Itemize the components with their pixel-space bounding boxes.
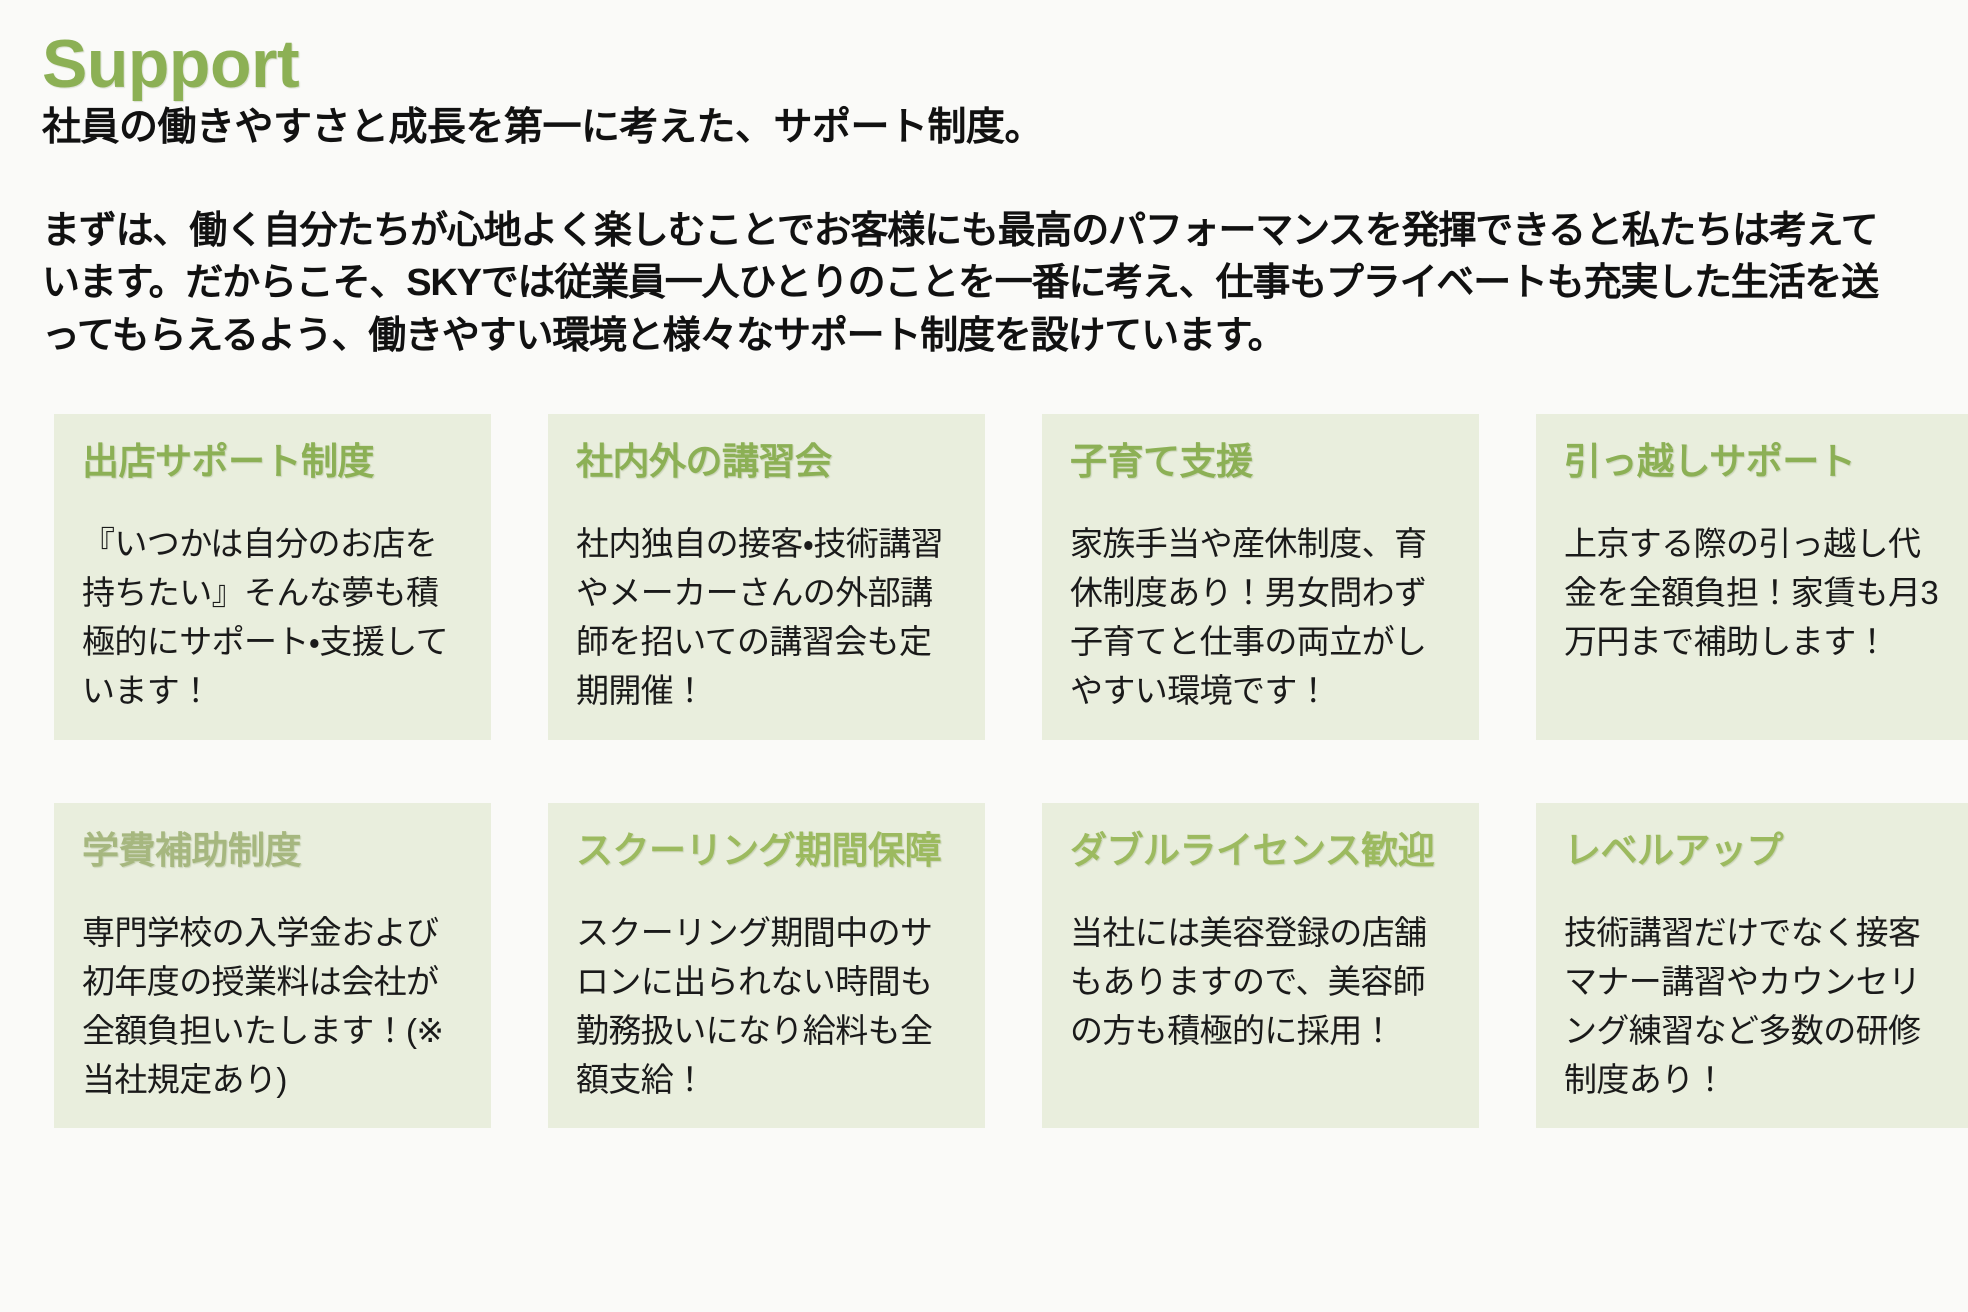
card-title: 子育て支援 — [1070, 440, 1451, 484]
card-body: 技術講習だけでなく接客マナー講習やカウンセリング練習など多数の研修制度あり！ — [1564, 909, 1945, 1104]
page-title: Support — [42, 30, 1913, 98]
card-body: 『いつかは自分のお店を持ちたい』そんな夢も積極的にサポート・支援しています！ — [82, 520, 463, 715]
card-title: 出店サポート制度 — [82, 440, 463, 484]
support-card-shop-opening: 出店サポート制度 『いつかは自分のお店を持ちたい』そんな夢も積極的にサポート・支… — [54, 414, 491, 740]
card-body: 家族手当や産休制度、育休制度あり！男女問わず子育てと仕事の両立がしやすい環境です… — [1070, 520, 1451, 715]
support-card-double-license: ダブルライセンス歓迎 当社には美容登録の店舗もありますので、美容師の方も積極的に… — [1042, 803, 1479, 1129]
support-page: Support 社員の働きやすさと成長を第一に考えた、サポート制度。 まずは、働… — [0, 0, 1968, 1312]
card-body: 専門学校の入学金および初年度の授業料は会社が全額負担いたします！(※当社規定あり… — [82, 909, 463, 1104]
card-title: ダブルライセンス歓迎 — [1070, 829, 1451, 873]
card-title: スクーリング期間保障 — [576, 829, 957, 873]
card-body: 上京する際の引っ越し代金を全額負担！家賃も月3万円まで補助します！ — [1564, 520, 1945, 666]
support-card-moving: 引っ越しサポート 上京する際の引っ越し代金を全額負担！家賃も月3万円まで補助しま… — [1536, 414, 1968, 740]
support-card-schooling-guarantee: スクーリング期間保障 スクーリング期間中のサロンに出られない時間も勤務扱いになり… — [548, 803, 985, 1129]
page-subtitle: 社員の働きやすさと成長を第一に考えた、サポート制度。 — [42, 104, 1913, 153]
support-card-childcare: 子育て支援 家族手当や産休制度、育休制度あり！男女問わず子育てと仕事の両立がしや… — [1042, 414, 1479, 740]
support-card-level-up: レベルアップ 技術講習だけでなく接客マナー講習やカウンセリング練習など多数の研修… — [1536, 803, 1968, 1129]
support-cards-grid: 出店サポート制度 『いつかは自分のお店を持ちたい』そんな夢も積極的にサポート・支… — [54, 414, 1913, 1128]
card-title: 学費補助制度 — [82, 829, 463, 873]
card-title: 社内外の講習会 — [576, 440, 957, 484]
support-card-tuition-assistance: 学費補助制度 専門学校の入学金および初年度の授業料は会社が全額負担いたします！(… — [54, 803, 491, 1129]
card-body: 当社には美容登録の店舗もありますので、美容師の方も積極的に採用！ — [1070, 909, 1451, 1055]
card-title: レベルアップ — [1564, 829, 1945, 873]
card-body: 社内独自の接客・技術講習やメーカーさんの外部講師を招いての講習会も定期開催！ — [576, 520, 957, 715]
card-title: 引っ越しサポート — [1564, 440, 1945, 484]
card-body: スクーリング期間中のサロンに出られない時間も勤務扱いになり給料も全額支給！ — [576, 909, 957, 1104]
intro-paragraph: まずは、働く自分たちが心地よく楽しむことでお客様にも最高のパフォーマンスを発揮で… — [42, 205, 1913, 362]
support-card-training-seminars: 社内外の講習会 社内独自の接客・技術講習やメーカーさんの外部講師を招いての講習会… — [548, 414, 985, 740]
